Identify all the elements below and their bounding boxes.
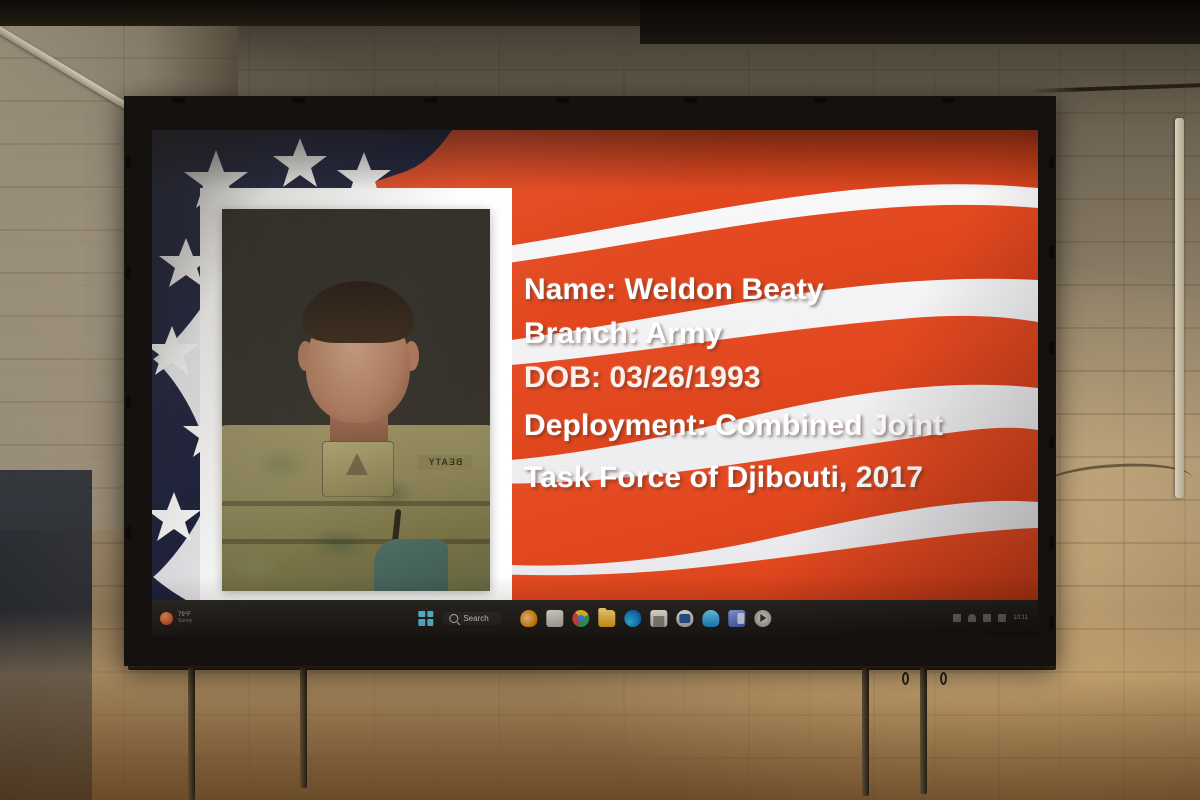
- onedrive-icon[interactable]: [703, 610, 720, 627]
- bungee-tie: [1049, 341, 1054, 354]
- weather-icon: [160, 612, 173, 625]
- bungee-tie: [126, 266, 131, 279]
- copilot-icon[interactable]: [521, 610, 538, 627]
- taskbar-center-group: Search: [418, 610, 771, 627]
- weather-text: 79°F Sunny: [178, 612, 192, 624]
- screen-stand-pole-left: [188, 668, 195, 800]
- slide-text-block: Name: Weldon Beaty Branch: Army DOB: 03/…: [524, 275, 1024, 493]
- screen-hook-right: [902, 672, 909, 685]
- windows-taskbar[interactable]: 79°F Sunny Search: [152, 600, 1038, 636]
- media-player-icon[interactable]: [755, 610, 772, 627]
- slide-line-dob: DOB: 03/26/1993: [524, 363, 1024, 393]
- bungee-tie: [1049, 536, 1054, 549]
- bungee-tie: [1049, 436, 1054, 449]
- system-tray[interactable]: 10:11: [953, 614, 1028, 622]
- store-icon[interactable]: [651, 610, 668, 627]
- slide-line-deployment-2: Task Force of Djibouti, 2017: [524, 463, 1024, 493]
- search-placeholder-label: Search: [463, 614, 488, 623]
- bungee-tie: [1049, 246, 1054, 259]
- start-tile: [427, 619, 434, 626]
- taskbar-weather-widget[interactable]: 79°F Sunny: [160, 612, 192, 625]
- start-button-icon[interactable]: [418, 611, 433, 626]
- outlook-icon[interactable]: [677, 610, 694, 627]
- screen-stand-pole-mid: [300, 668, 307, 788]
- volume-icon[interactable]: [983, 614, 991, 622]
- screen-hook-far-right: [940, 672, 947, 685]
- battery-icon[interactable]: [998, 614, 1006, 622]
- start-tile: [418, 619, 425, 626]
- screen-stand-pole-right: [862, 668, 869, 796]
- bungee-tie: [1049, 616, 1054, 629]
- projected-slide[interactable]: BEATY Name: Weldon Beaty Branch: Army DO…: [152, 130, 1038, 636]
- slide-line-deployment-1: Deployment: Combined Joint: [524, 411, 1024, 441]
- bungee-tie: [172, 98, 185, 103]
- search-icon: [449, 614, 458, 623]
- taskbar-clock[interactable]: 10:11: [1013, 615, 1028, 622]
- projection-screen[interactable]: BEATY Name: Weldon Beaty Branch: Army DO…: [124, 96, 1056, 666]
- bungee-tie: [684, 98, 697, 103]
- bungee-tie: [424, 98, 437, 103]
- photo-vest-seam: [222, 501, 490, 506]
- task-view-icon[interactable]: [547, 610, 564, 627]
- taskbar-app-icons: [521, 610, 772, 627]
- bungee-tie: [942, 98, 955, 103]
- bungee-tie: [126, 156, 131, 169]
- bungee-tie: [126, 526, 131, 539]
- bungee-tie: [126, 396, 131, 409]
- clock-time: 10:11: [1013, 615, 1028, 622]
- start-tile: [418, 611, 425, 618]
- bungee-tie: [814, 98, 827, 103]
- taskbar-search-box[interactable]: Search: [442, 612, 502, 625]
- photo-nametape: BEATY: [418, 455, 472, 470]
- bungee-tie: [556, 98, 569, 103]
- room-scene: BEATY Name: Weldon Beaty Branch: Army DO…: [0, 0, 1200, 800]
- tray-overflow-icon[interactable]: [953, 614, 961, 622]
- slide-line-branch: Branch: Army: [524, 319, 1024, 349]
- wifi-icon[interactable]: [968, 614, 976, 622]
- teams-icon[interactable]: [729, 610, 746, 627]
- edge-icon[interactable]: [625, 610, 642, 627]
- wall-downspout-pipe: [1175, 118, 1184, 498]
- screen-stand-pole-far-right: [920, 668, 927, 794]
- file-explorer-icon[interactable]: [599, 610, 616, 627]
- photo-vest-seam: [222, 539, 490, 544]
- start-tile: [427, 611, 434, 618]
- slide-line-name: Name: Weldon Beaty: [524, 275, 1024, 305]
- ceiling-shadow-right: [640, 0, 1200, 44]
- chrome-icon[interactable]: [573, 610, 590, 627]
- weather-condition: Sunny: [178, 619, 192, 624]
- photo-green-item: [374, 539, 448, 591]
- soldier-photo[interactable]: BEATY: [222, 209, 490, 591]
- bungee-tie: [1049, 156, 1054, 169]
- bungee-tie: [292, 98, 305, 103]
